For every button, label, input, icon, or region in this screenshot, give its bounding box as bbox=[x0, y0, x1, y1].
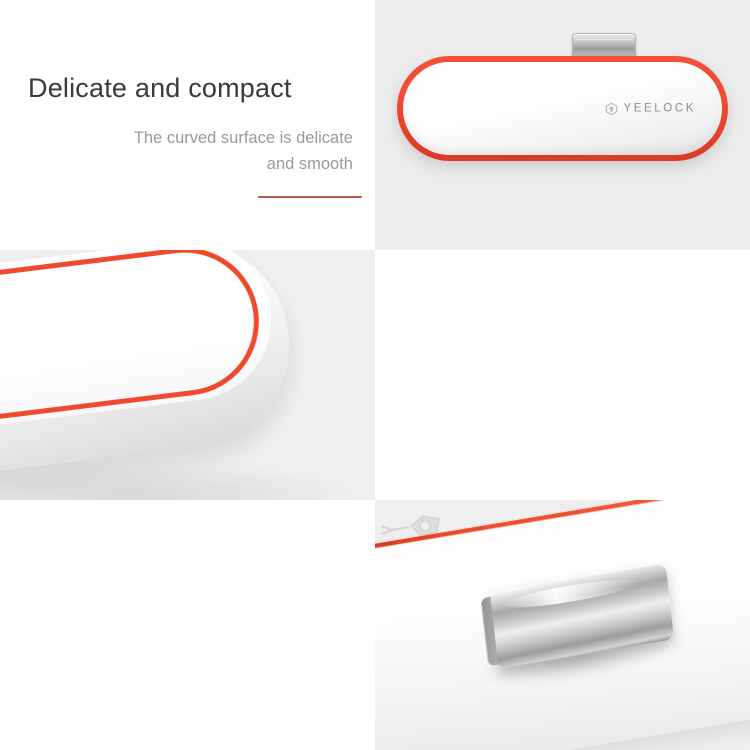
hexagon-logo-icon bbox=[605, 102, 618, 115]
panel-delicate-text: Delicate and compact The curved surface … bbox=[0, 0, 375, 250]
product-lock-body: YEELOCK bbox=[395, 30, 730, 210]
delicate-text-block: Delicate and compact The curved surface … bbox=[28, 72, 353, 178]
delicate-subtext-line2: and smooth bbox=[28, 152, 353, 178]
delicate-subtext-line1: The curved surface is delicate bbox=[28, 126, 353, 152]
macro-scene bbox=[0, 250, 375, 500]
shell-gloss bbox=[425, 72, 648, 104]
brand-name: YEELOCK bbox=[623, 103, 696, 115]
panel-macro-corner-photo bbox=[0, 250, 375, 500]
panel-stylish-text: Stylish appearance Inner shell of vitali… bbox=[375, 250, 750, 500]
panel-chrome-text: Multi-layer chrome lock Wear resistance,… bbox=[0, 500, 375, 750]
product-feature-banner: Delicate and compact The curved surface … bbox=[0, 0, 750, 750]
delicate-heading: Delicate and compact bbox=[28, 72, 353, 104]
delicate-subtext: The curved surface is delicate and smoot… bbox=[28, 126, 353, 177]
orange-rim: YEELOCK bbox=[397, 56, 728, 161]
panel-product-photo-full: YEELOCK bbox=[375, 0, 750, 250]
white-shell: YEELOCK bbox=[403, 62, 722, 155]
panel-chrome-bolt-photo bbox=[375, 500, 750, 750]
macro-drop-shadow bbox=[0, 460, 370, 500]
bolt-scene bbox=[375, 500, 750, 750]
brand-logo: YEELOCK bbox=[605, 102, 696, 115]
delicate-accent-rule bbox=[258, 196, 362, 198]
